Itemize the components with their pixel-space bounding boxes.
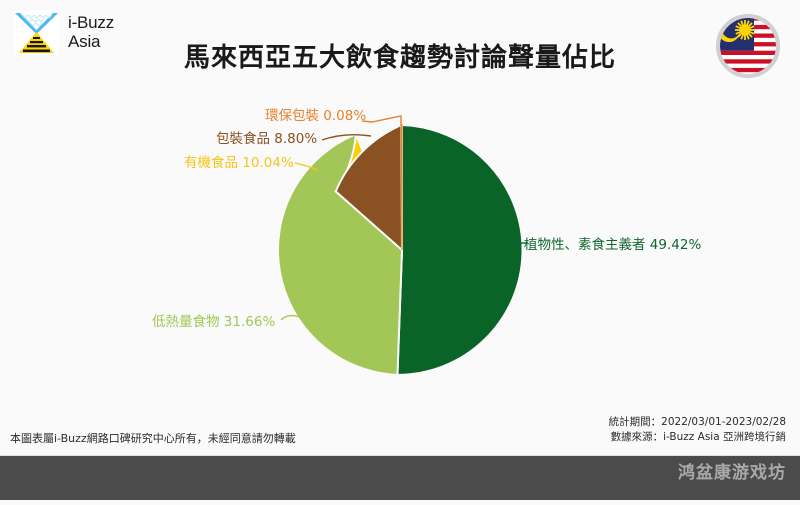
slice-label-organic: 有機食品 10.04% — [184, 151, 294, 171]
pie-slice-eco[interactable] — [401, 125, 402, 250]
copyright-notice: 本圖表屬i-Buzz網路口碑研究中心所有，未經同意請勿轉載 — [10, 430, 296, 446]
statistics-period: 統計期間：2022/03/01-2023/02/28 — [609, 415, 786, 430]
slice-label-low-calorie: 低熱量食物 31.66% — [152, 310, 275, 330]
infographic-canvas: i-Buzz Asia — [0, 0, 800, 500]
slice-label-packaged: 包裝食品 8.80% — [216, 127, 317, 147]
slice-label-eco: 環保包裝 0.08% — [265, 104, 366, 124]
pie-slice-vegetarian[interactable] — [397, 125, 522, 375]
slice-label-vegetarian: 植物性、素食主義者 49.42% — [524, 233, 701, 253]
watermark-text: 鸿盆康游戏坊 — [678, 458, 786, 483]
data-source: 數據來源：i-Buzz Asia 亞洲跨境行銷 — [609, 430, 786, 445]
leader-line-eco — [362, 116, 401, 126]
source-block: 統計期間：2022/03/01-2023/02/28 數據來源：i-Buzz A… — [609, 415, 786, 445]
